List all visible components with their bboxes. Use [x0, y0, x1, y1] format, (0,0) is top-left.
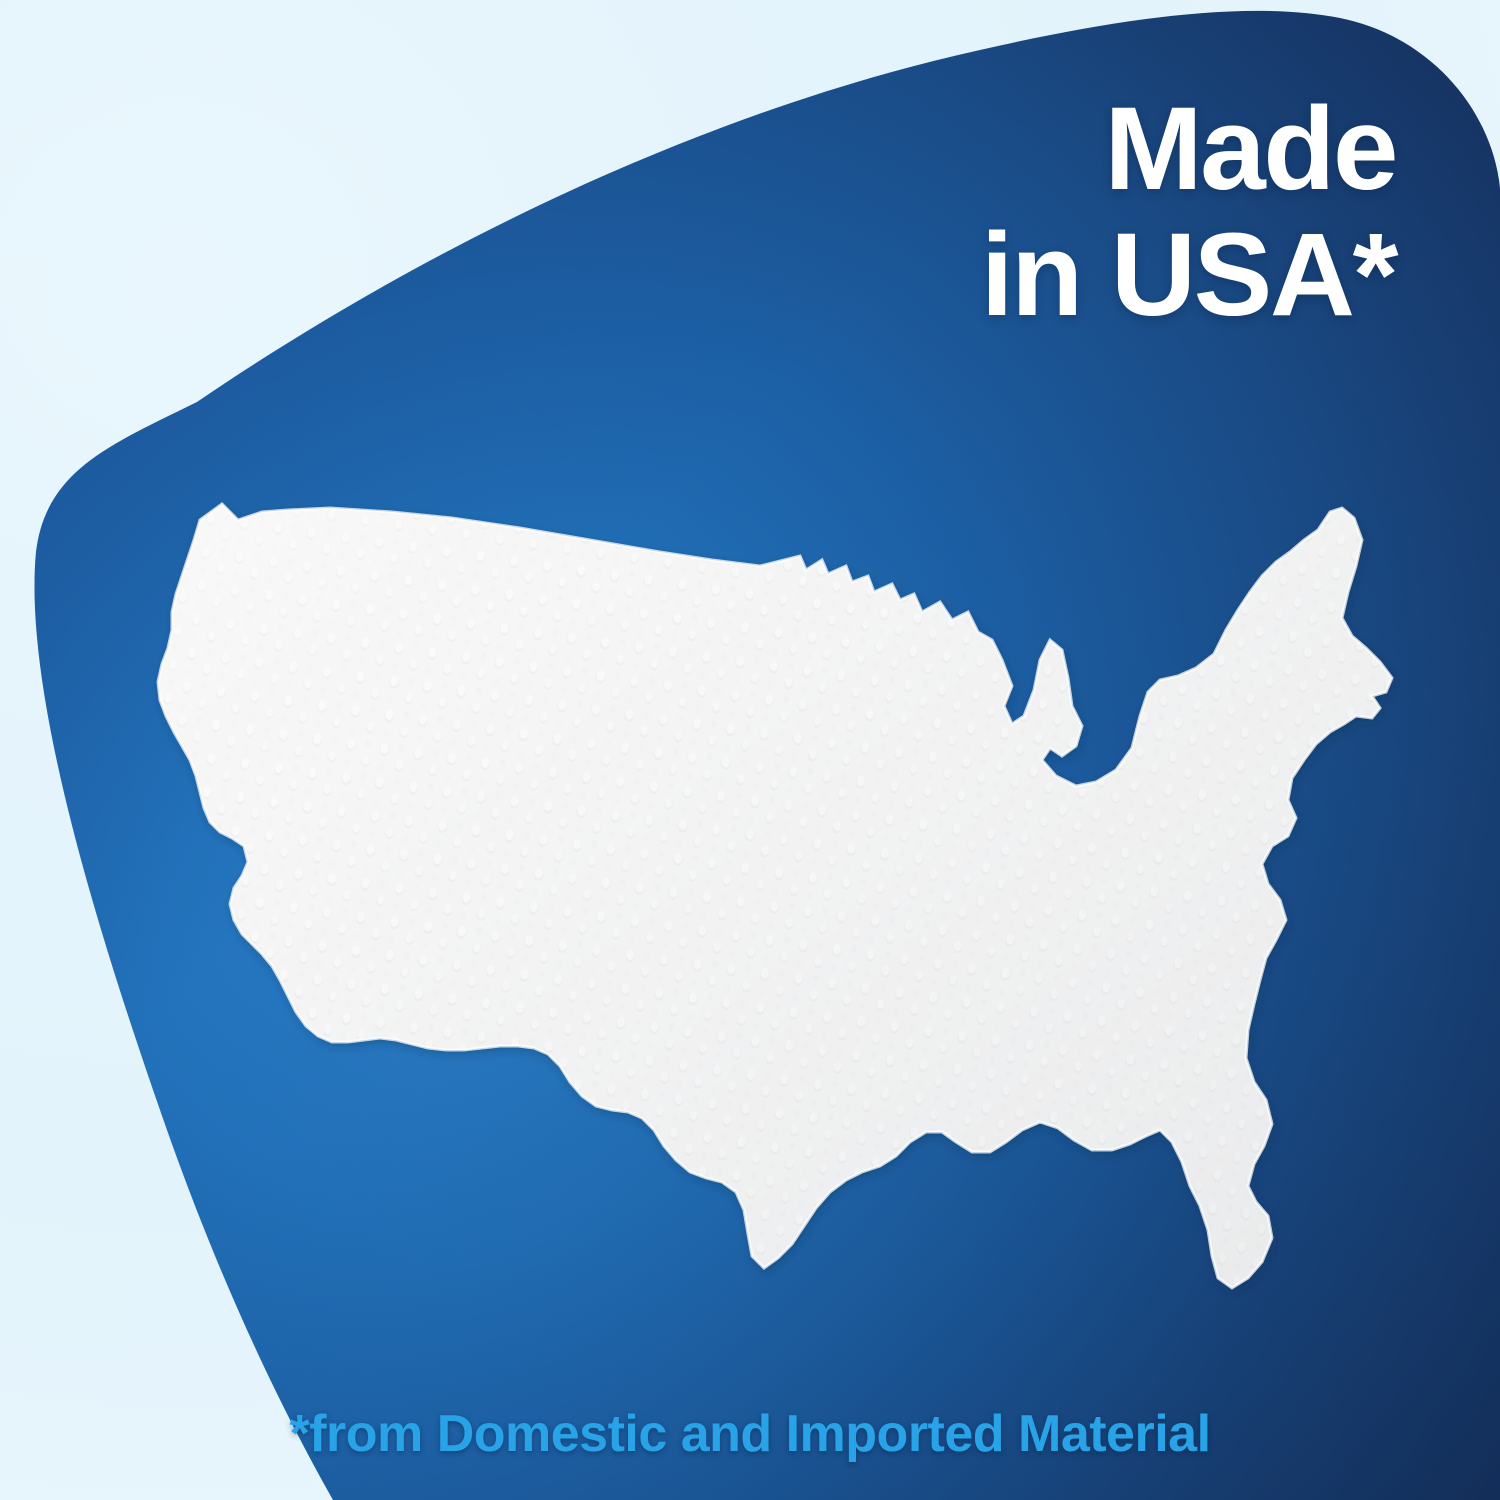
headline-line-1: Made	[981, 86, 1396, 212]
headline-line-2: in USA*	[981, 212, 1396, 338]
page-title: Made in USA*	[981, 86, 1396, 339]
made-in-usa-graphic: Made in USA* *from Domestic and Imported…	[0, 0, 1500, 1500]
footnote-text: *from Domestic and Imported Material	[0, 1404, 1500, 1464]
